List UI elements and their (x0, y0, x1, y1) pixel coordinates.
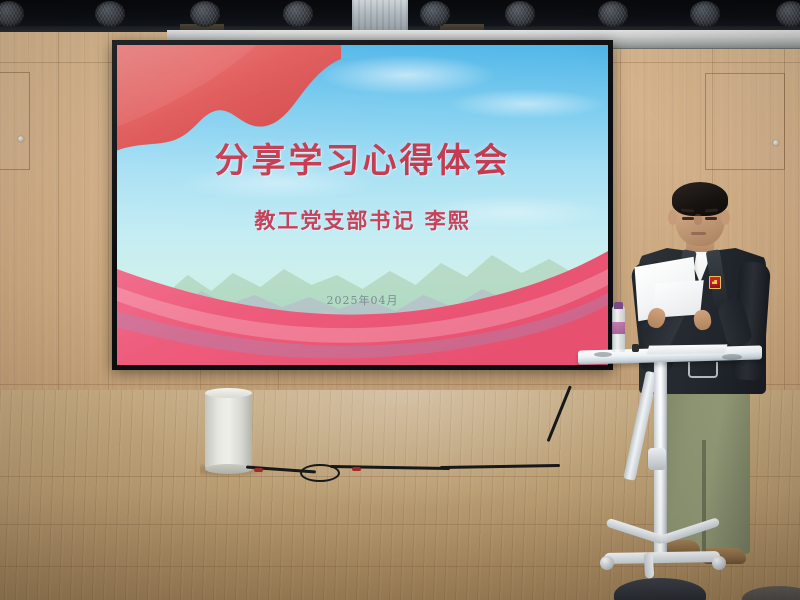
recessed-round-ceiling-light (420, 1, 450, 27)
lectern-bracket (688, 362, 718, 378)
white-cylinder-stool[interactable] (205, 392, 252, 470)
recessed-round-ceiling-light (598, 1, 628, 27)
trouser-seam (702, 440, 706, 554)
cable-connector (254, 468, 263, 472)
wall-access-panel[interactable] (0, 72, 30, 170)
cable-connector (352, 467, 361, 471)
presentation-slide: 分享学习心得体会 教工党支部书记 李熙 2025年04月 (117, 45, 608, 365)
panel-lock-icon (18, 136, 24, 142)
ear-left (668, 210, 677, 225)
recessed-round-ceiling-light (776, 1, 800, 27)
party-emblem-badge-icon (709, 276, 721, 289)
bottle-cap-icon (614, 302, 623, 309)
desk-small-object (632, 344, 639, 352)
slide-title: 分享学习心得体会 (117, 133, 608, 182)
wall-seam (58, 30, 59, 390)
nose (694, 214, 702, 225)
eye-right (705, 217, 717, 220)
lectern-leg (644, 552, 655, 579)
wall-access-panel[interactable] (705, 73, 785, 170)
recessed-round-ceiling-light (283, 1, 313, 27)
presentation-photo-scene: 分享学习心得体会 教工党支部书记 李熙 2025年04月 (0, 0, 800, 600)
desk-marker (594, 352, 612, 357)
lectern-caster-wheel[interactable] (712, 556, 726, 570)
desk-marker (722, 354, 742, 360)
panel-lock-icon (773, 140, 779, 146)
mouth (691, 232, 706, 235)
papers-on-desk (647, 344, 728, 354)
recessed-round-ceiling-light (190, 1, 220, 27)
recessed-round-ceiling-light (690, 1, 720, 27)
floor-plank-seam (0, 566, 800, 567)
slide-subtitle: 教工党支部书记 李熙 (117, 205, 608, 235)
lectern-caster-wheel[interactable] (600, 556, 614, 570)
stool-base (205, 464, 252, 474)
bottle-label (612, 322, 625, 334)
wall-seam (108, 30, 109, 390)
ear-right (721, 210, 730, 225)
lectern-base-bar (604, 551, 720, 564)
slide-date: 2025年04月 (117, 292, 608, 308)
recessed-round-ceiling-light (95, 1, 125, 27)
cloud (317, 55, 497, 95)
recessed-round-ceiling-light (505, 1, 535, 27)
cloud (447, 89, 607, 119)
stool-top (205, 388, 252, 398)
projection-screen: 分享学习心得体会 教工党支部书记 李熙 2025年04月 (112, 40, 613, 370)
lectern-height-joint[interactable] (648, 448, 666, 470)
eye-left (682, 217, 694, 220)
